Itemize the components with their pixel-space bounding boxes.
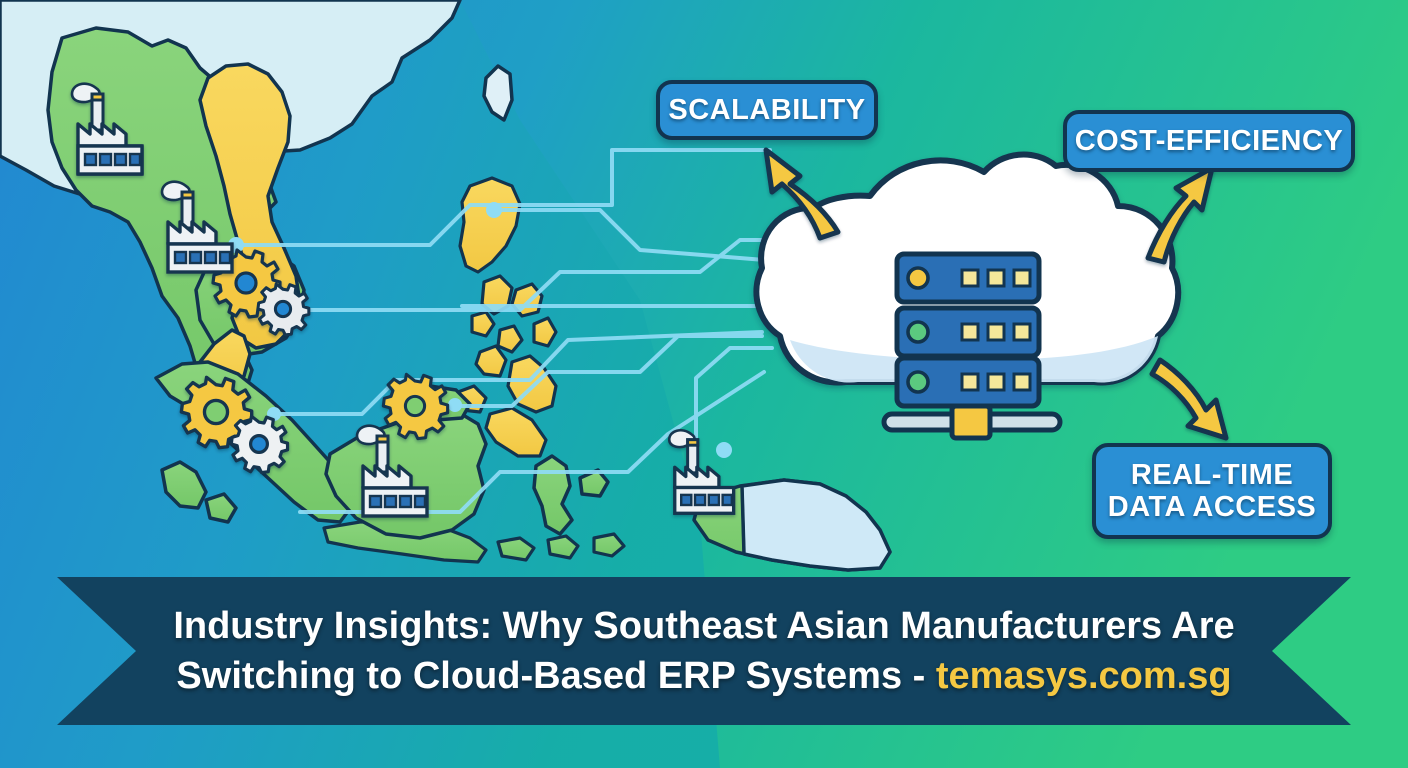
label-cost-efficiency[interactable]: COST-EFFICIENCY [1063,110,1355,172]
server-unit-2 [897,308,1039,356]
banner-title-line1: Industry Insights: Why Southeast Asian M… [173,601,1234,651]
server-led-1 [908,268,928,288]
server-led-2 [908,322,928,342]
banner-title: Industry Insights: Why Southeast Asian M… [57,577,1351,725]
label-real-time-line1: REAL-TIME [1108,459,1317,491]
server-led-3 [908,372,928,392]
label-real-time-line2: DATA ACCESS [1108,491,1317,523]
banner-title-line2: Switching to Cloud-Based ERP Systems - t… [176,651,1231,701]
server-rack-icon [897,254,1039,406]
banner-title-line2-main: Switching to Cloud-Based ERP Systems - [176,655,935,697]
server-unit-1 [897,254,1039,302]
infographic-canvas: SCALABILITY COST-EFFICIENCY REAL-TIME DA… [0,0,1408,768]
label-real-time-data-access[interactable]: REAL-TIME DATA ACCESS [1092,443,1332,539]
label-scalability[interactable]: SCALABILITY [656,80,878,140]
server-unit-3 [897,358,1039,406]
label-cost-efficiency-text: COST-EFFICIENCY [1075,125,1344,157]
label-scalability-text: SCALABILITY [668,94,865,126]
title-banner: Industry Insights: Why Southeast Asian M… [57,577,1351,725]
banner-brand-domain: temasys.com.sg [936,655,1232,697]
